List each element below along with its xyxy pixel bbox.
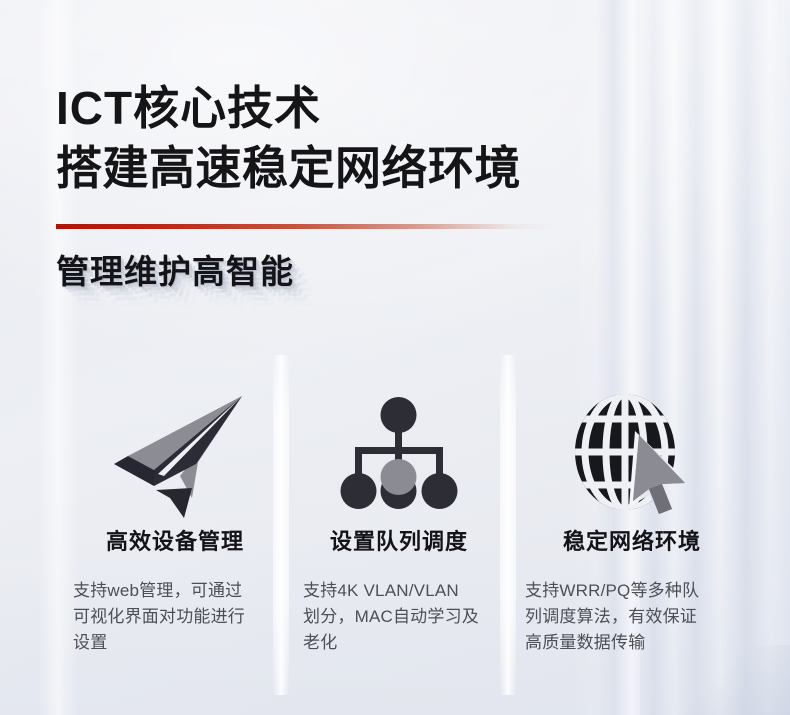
subtitle-block: 管理维护高智能 bbox=[56, 248, 294, 296]
feature-body-line: 设置 bbox=[73, 630, 293, 656]
headline-line-2: 搭建高速稳定网络环境 bbox=[56, 138, 521, 198]
feature-body-line: 支持web管理，可通过 bbox=[73, 578, 293, 604]
feature-body: 支持web管理，可通过 可视化界面对功能进行 设置 bbox=[57, 578, 293, 656]
feature-body: 支持WRR/PQ等多种队 列调度算法，有效保证 高质量数据传输 bbox=[507, 578, 757, 656]
feature-row: 高效设备管理 支持web管理，可通过 可视化界面对功能进行 设置 bbox=[0, 386, 790, 656]
feature-body-line: 支持WRR/PQ等多种队 bbox=[525, 578, 757, 604]
headline-line-1: ICT核心技术 bbox=[56, 78, 521, 138]
feature-card-device-management: 高效设备管理 支持web管理，可通过 可视化界面对功能进行 设置 bbox=[57, 386, 293, 656]
feature-body-line: 可视化界面对功能进行 bbox=[73, 604, 293, 630]
feature-body-line: 列调度算法，有效保证 bbox=[525, 604, 757, 630]
feature-body-line: 老化 bbox=[303, 630, 513, 656]
feature-title: 设置队列调度 bbox=[285, 528, 513, 556]
promo-banner: ICT核心技术 搭建高速稳定网络环境 管理维护高智能 bbox=[0, 0, 790, 715]
paper-plane-icon bbox=[57, 386, 293, 522]
globe-cursor-icon bbox=[507, 386, 757, 522]
feature-card-network-environment: 稳定网络环境 支持WRR/PQ等多种队 列调度算法，有效保证 高质量数据传输 bbox=[507, 386, 757, 656]
feature-title: 高效设备管理 bbox=[57, 528, 293, 556]
feature-body-line: 划分，MAC自动学习及 bbox=[303, 604, 513, 630]
feature-body: 支持4K VLAN/VLAN 划分，MAC自动学习及 老化 bbox=[285, 578, 513, 656]
feature-card-queue-scheduling: 设置队列调度 支持4K VLAN/VLAN 划分，MAC自动学习及 老化 bbox=[285, 386, 513, 656]
network-tree-icon bbox=[285, 386, 513, 522]
feature-body-line: 高质量数据传输 bbox=[525, 630, 757, 656]
red-accent-rule bbox=[56, 224, 556, 229]
headline-block: ICT核心技术 搭建高速稳定网络环境 bbox=[56, 78, 521, 198]
subtitle-text: 管理维护高智能 bbox=[56, 248, 294, 296]
feature-title: 稳定网络环境 bbox=[507, 528, 757, 556]
feature-body-line: 支持4K VLAN/VLAN bbox=[303, 578, 513, 604]
